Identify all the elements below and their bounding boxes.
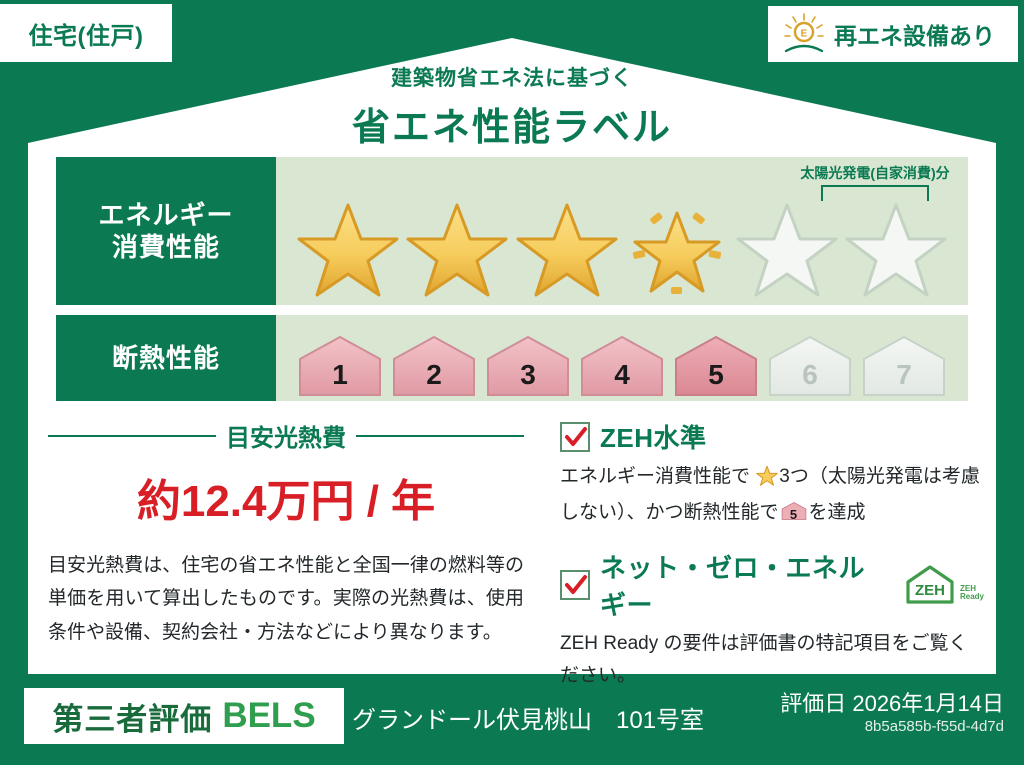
- building-type-badge: 住宅(住戸): [0, 4, 172, 62]
- solar-annotation-label: 太陽光発電(自家消費)分: [750, 163, 1000, 183]
- title-subtitle: 建築物省エネ法に基づく: [0, 62, 1024, 92]
- insulation-grade-number: 4: [576, 359, 668, 391]
- insulation-grade-number: 6: [764, 359, 856, 391]
- star-icon-empty: [735, 199, 839, 299]
- checkmark-icon: [560, 570, 590, 600]
- zeh-level-body-part3: を達成: [809, 502, 866, 523]
- insulation-grade-badge: 3: [482, 333, 574, 399]
- insulation-grade-panel: 1 2 3: [276, 315, 968, 401]
- net-zero-energy-title: ネット・ゼロ・エネルギー: [600, 548, 887, 622]
- star-rating: [276, 199, 968, 299]
- insulation-performance-row: 断熱性能: [56, 315, 968, 401]
- utility-cost-amount: 約12.4万円 / 年: [48, 465, 524, 529]
- renewable-equipment-badge: E 再エネ設備あり: [768, 6, 1018, 62]
- insulation-grade-number: 1: [294, 359, 386, 391]
- energy-label-line1: エネルギー: [98, 199, 233, 232]
- energy-performance-row: エネルギー 消費性能 太陽光発電(自家消費)分: [56, 157, 968, 305]
- bels-badge-en: BELS: [222, 696, 315, 736]
- zeh-claims-block: ZEH水準 エネルギー消費性能で 3つ（太陽光発電は考慮しない）、かつ断熱性能で…: [560, 418, 984, 692]
- renewable-equipment-label: 再エネ設備あり: [834, 17, 995, 51]
- zeh-level-title: ZEH水準: [600, 418, 707, 455]
- energy-performance-label: エネルギー 消費性能: [56, 157, 276, 305]
- star-icon-inline: [751, 470, 778, 491]
- insulation-grade-badge-inactive: 6: [764, 333, 856, 399]
- checkmark-icon: [560, 422, 590, 452]
- star-icon-filled: [405, 199, 509, 299]
- evaluation-id: 8b5a585b-f55d-4d7d: [865, 718, 1004, 735]
- label-canvas: 住宅(住戸) E 再エネ設備あり 建築物省エネ法に基づ: [0, 0, 1024, 765]
- insulation-grade-badge: 4: [576, 333, 668, 399]
- insulation-grade-number: 7: [858, 359, 950, 391]
- building-type-label: 住宅(住戸): [29, 16, 144, 51]
- star-icon-solar: [625, 199, 729, 299]
- zeh-level-claim: ZEH水準 エネルギー消費性能で 3つ（太陽光発電は考慮しない）、かつ断熱性能で…: [560, 418, 984, 530]
- zeh-level-body-part1: エネルギー消費性能で: [560, 466, 750, 487]
- net-zero-energy-heading: ネット・ゼロ・エネルギー ZEH ZEH Ready: [560, 548, 984, 622]
- svg-text:E: E: [801, 29, 808, 40]
- insulation-grade-badge-achieved: 5: [670, 333, 762, 399]
- zeh-level-body: エネルギー消費性能で 3つ（太陽光発電は考慮しない）、かつ断熱性能で 5を達成: [560, 461, 984, 530]
- evaluation-date: 評価日 2026年1月14日: [780, 686, 1004, 718]
- insulation-grade-strip: 1 2 3: [276, 333, 968, 399]
- solar-annotation: 太陽光発電(自家消費)分: [750, 163, 1000, 201]
- divider-right: [356, 435, 524, 437]
- insulation-grade-badge: 1: [294, 333, 386, 399]
- utility-cost-block: 目安光熱費 約12.4万円 / 年 目安光熱費は、住宅の省エネ性能と全国一律の燃…: [48, 418, 524, 649]
- divider-left: [48, 435, 216, 437]
- star-icon-filled: [515, 199, 619, 299]
- bels-badge-jp: 第三者評価: [52, 694, 212, 739]
- zeh-level-heading: ZEH水準: [560, 418, 984, 455]
- svg-text:ZEH: ZEH: [915, 582, 945, 599]
- insulation-performance-label: 断熱性能: [56, 315, 276, 401]
- footer-bar: 第三者評価 BELS グランドール伏見桃山 101号室 評価日 2026年1月1…: [0, 674, 1024, 765]
- zeh-ready-logo: ZEH ZEH Ready: [903, 564, 984, 606]
- insulation-grade-inline-number: 5: [781, 504, 807, 526]
- zeh-ready-logo-caption: ZEH Ready: [960, 585, 984, 602]
- bels-badge: 第三者評価 BELS: [24, 688, 344, 744]
- title-block: 建築物省エネ法に基づく 省エネ性能ラベル: [0, 62, 1024, 151]
- insulation-grade-badge-inactive: 7: [858, 333, 950, 399]
- property-name: グランドール伏見桃山 101号室: [352, 700, 704, 735]
- insulation-grade-number: 5: [670, 359, 762, 391]
- utility-cost-heading: 目安光熱費: [48, 418, 524, 453]
- star-icon-empty: [844, 199, 948, 299]
- insulation-grade-number: 2: [388, 359, 480, 391]
- insulation-grade-number: 3: [482, 359, 574, 391]
- energy-star-panel: 太陽光発電(自家消費)分: [276, 157, 968, 305]
- utility-cost-note: 目安光熱費は、住宅の省エネ性能と全国一律の燃料等の単価を用いて算出したものです。…: [48, 549, 524, 649]
- star-icon-filled: [296, 199, 400, 299]
- page-title: 省エネ性能ラベル: [0, 96, 1024, 151]
- net-zero-energy-claim: ネット・ゼロ・エネルギー ZEH ZEH Ready ZEH Ready の要件…: [560, 548, 984, 693]
- utility-cost-title: 目安光熱費: [226, 418, 346, 453]
- performance-block: エネルギー 消費性能 太陽光発電(自家消費)分: [56, 157, 968, 401]
- zeh-ready-caption-line2: Ready: [960, 592, 984, 601]
- energy-label-line2: 消費性能: [112, 231, 220, 264]
- insulation-grade-badge: 2: [388, 333, 480, 399]
- insulation-grade-inline: 5: [781, 501, 807, 521]
- solar-sun-icon: E: [780, 12, 828, 56]
